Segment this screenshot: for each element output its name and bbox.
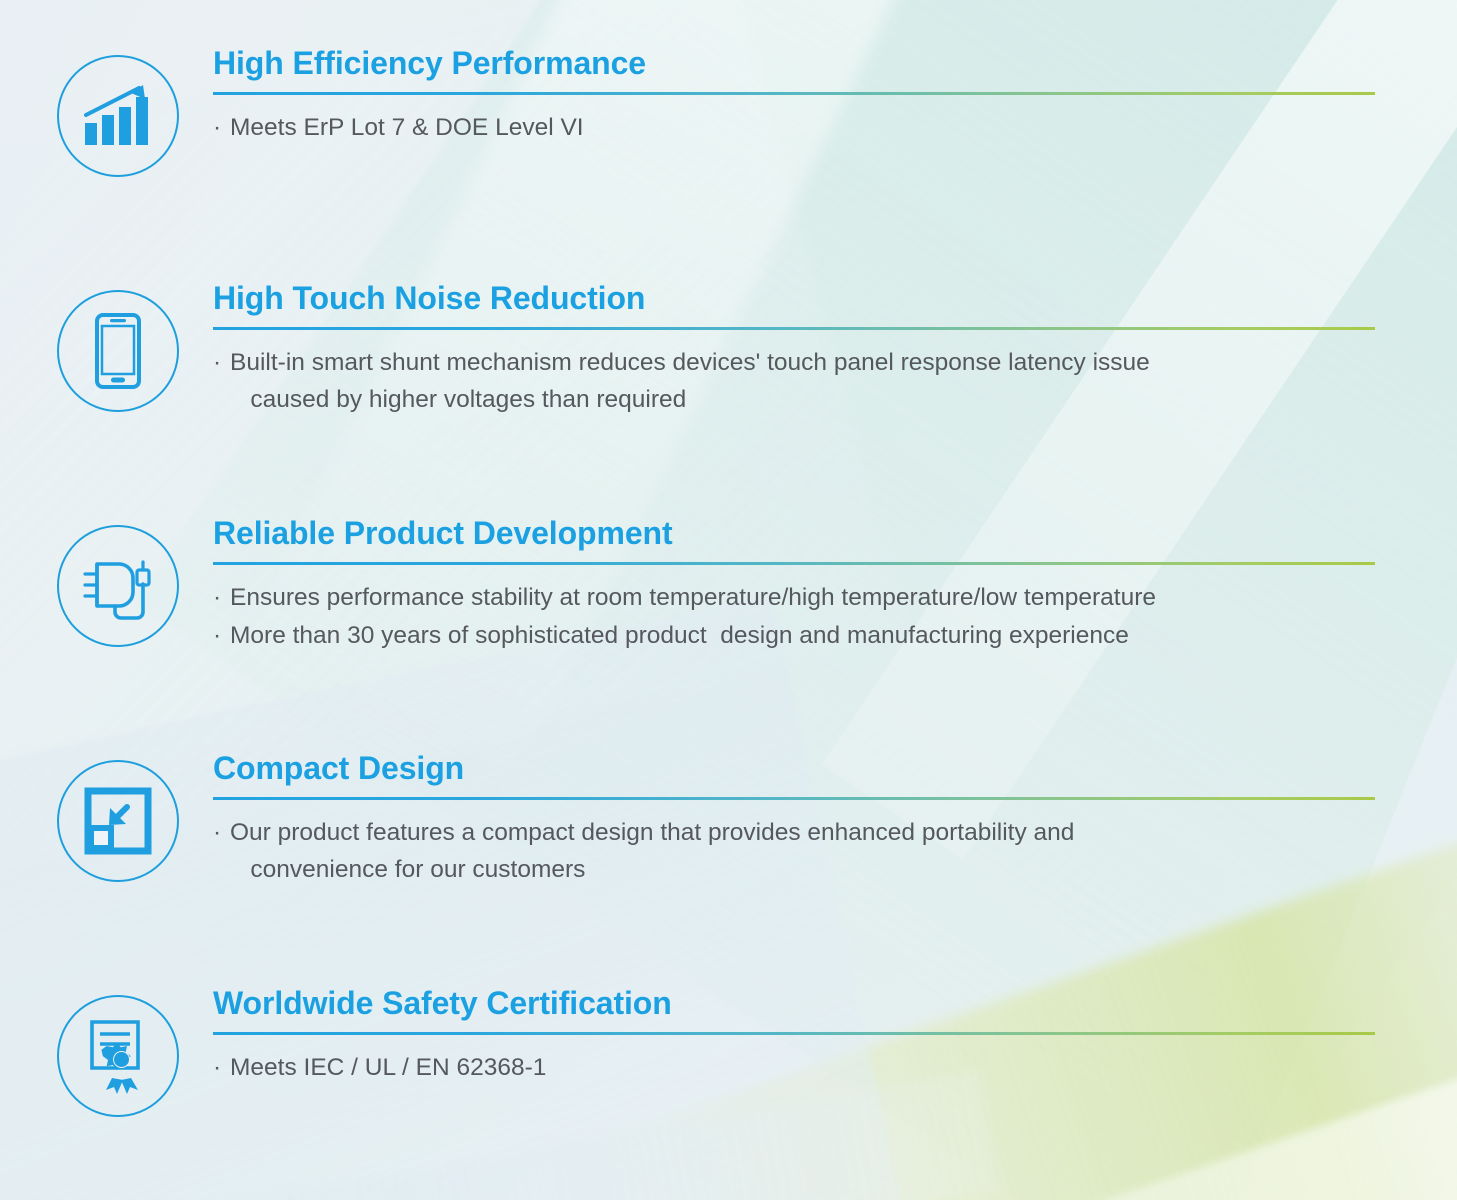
feature-divider [213, 327, 1375, 330]
feature-content: Compact Design ·Our product features a c… [213, 751, 1375, 889]
bullet-text: Built-in smart shunt mechanism reduces d… [230, 349, 1150, 413]
feature-divider [213, 562, 1375, 565]
feature-bullet-list: ·Meets IEC / UL / EN 62368-1 [213, 1049, 1375, 1086]
bullet-text: Meets ErP Lot 7 & DOE Level VI [230, 114, 584, 141]
list-item: ·Our product features a compact design t… [213, 814, 1375, 888]
feature-row: High Efficiency Performance ·Meets ErP L… [0, 0, 1457, 235]
feature-content: Worldwide Safety Certification ·Meets IE… [213, 986, 1375, 1087]
bullet-text: Ensures performance stability at room te… [230, 584, 1156, 611]
list-item: ·More than 30 years of sophisticated pro… [213, 617, 1375, 654]
list-item: ·Meets IEC / UL / EN 62368-1 [213, 1049, 1375, 1086]
feature-heading: Worldwide Safety Certification [213, 986, 1375, 1022]
feature-list-page: High Efficiency Performance ·Meets ErP L… [0, 0, 1457, 1200]
bullet-marker: · [213, 579, 221, 616]
bullet-marker: · [213, 1049, 221, 1086]
bullet-marker: · [213, 814, 221, 851]
list-item: ·Built-in smart shunt mechanism reduces … [213, 344, 1375, 418]
feature-bullet-list: ·Our product features a compact design t… [213, 814, 1375, 888]
power-adapter-icon [57, 525, 179, 647]
feature-content: High Efficiency Performance ·Meets ErP L… [213, 46, 1375, 147]
bar-chart-growth-icon [57, 55, 179, 177]
feature-row: Worldwide Safety Certification ·Meets IE… [0, 940, 1457, 1175]
feature-bullet-list: ·Built-in smart shunt mechanism reduces … [213, 344, 1375, 418]
feature-heading: High Efficiency Performance [213, 46, 1375, 82]
feature-heading: Compact Design [213, 751, 1375, 787]
feature-bullet-list: ·Meets ErP Lot 7 & DOE Level VI [213, 109, 1375, 146]
feature-divider [213, 1032, 1375, 1035]
feature-content: Reliable Product Development ·Ensures pe… [213, 516, 1375, 655]
list-item: ·Ensures performance stability at room t… [213, 579, 1375, 616]
bullet-marker: · [213, 109, 221, 146]
feature-content: High Touch Noise Reduction ·Built-in sma… [213, 281, 1375, 419]
smartphone-icon [57, 290, 179, 412]
feature-divider [213, 797, 1375, 800]
feature-row: Compact Design ·Our product features a c… [0, 705, 1457, 940]
bullet-text: More than 30 years of sophisticated prod… [230, 622, 1129, 649]
feature-divider [213, 92, 1375, 95]
feature-bullet-list: ·Ensures performance stability at room t… [213, 579, 1375, 654]
feature-row: High Touch Noise Reduction ·Built-in sma… [0, 235, 1457, 470]
bullet-text: Meets IEC / UL / EN 62368-1 [230, 1054, 546, 1081]
bullet-marker: · [213, 344, 221, 381]
certificate-award-icon [57, 995, 179, 1117]
feature-heading: Reliable Product Development [213, 516, 1375, 552]
list-item: ·Meets ErP Lot 7 & DOE Level VI [213, 109, 1375, 146]
feature-row: Reliable Product Development ·Ensures pe… [0, 470, 1457, 705]
bullet-marker: · [213, 617, 221, 654]
compact-resize-icon [57, 760, 179, 882]
bullet-text: Our product features a compact design th… [230, 819, 1074, 883]
feature-heading: High Touch Noise Reduction [213, 281, 1375, 317]
